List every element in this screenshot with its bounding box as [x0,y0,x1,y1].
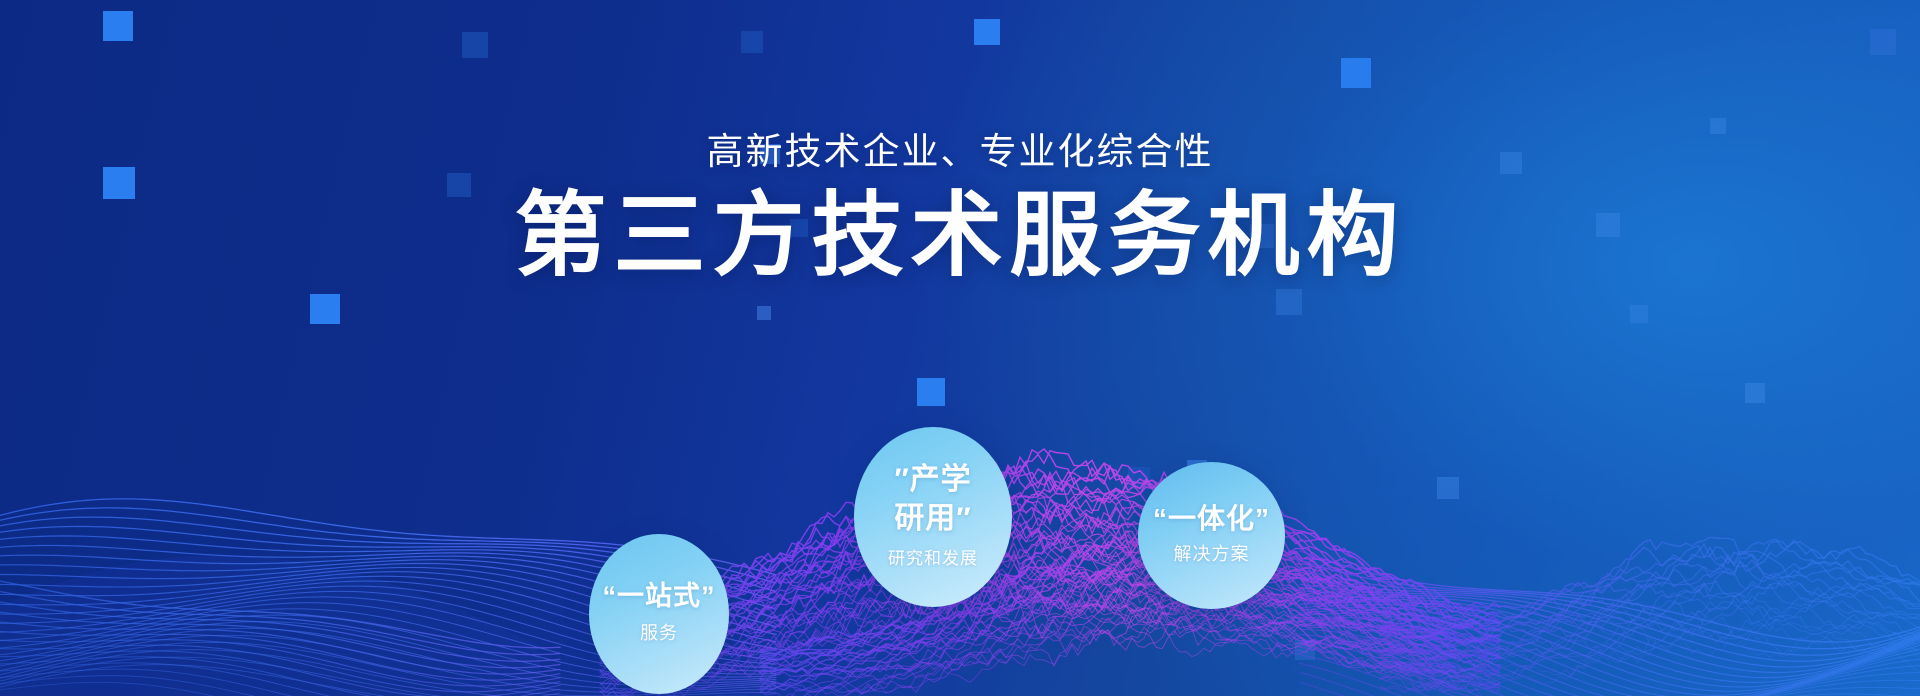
bubble-one-stop[interactable]: “一站式” 服务 [589,534,729,694]
decorative-square [1630,305,1648,323]
decorative-square [757,306,771,320]
banner-title: 第三方技术服务机构 [0,190,1920,284]
bubble-one-stop-title: “一站式” [603,583,716,611]
bubble-integrated-caption: 解决方案 [1174,540,1250,566]
bubble-iur-title-line1: ″产学 [894,465,971,496]
bubble-integrated-solution[interactable]: “一体化” 解决方案 [1138,462,1285,609]
bubble-integrated-title: “一体化” [1153,505,1270,534]
hero-banner: 高新技术企业、专业化综合性 第三方技术服务机构 “一站式” 服务 ″产学 研用″… [0,0,1920,696]
bubble-industry-university-research[interactable]: ″产学 研用″ 研究和发展 [854,427,1012,607]
decorative-square [310,294,340,324]
bubble-iur-title-line2: 研用″ [894,504,971,535]
bubble-iur-caption: 研究和发展 [888,544,978,569]
bubble-one-stop-caption: 服务 [640,619,678,645]
banner-subtitle: 高新技术企业、专业化综合性 [0,133,1920,172]
headline-block: 高新技术企业、专业化综合性 第三方技术服务机构 [0,0,1920,284]
decorative-square [1276,289,1302,315]
